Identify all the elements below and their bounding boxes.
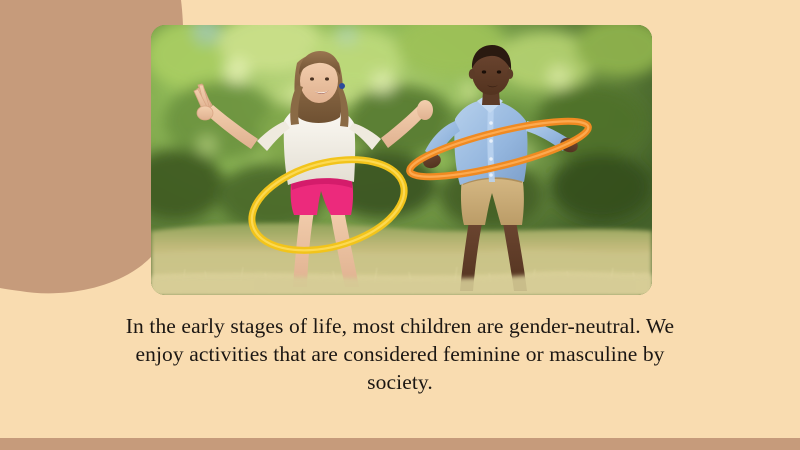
caption-text: In the early stages of life, most childr… [120,312,680,396]
slide-canvas: In the early stages of life, most childr… [0,0,800,450]
children-hula-hoop-photo [151,25,652,295]
bottom-accent-bar [0,438,800,450]
photo-card [151,25,652,295]
